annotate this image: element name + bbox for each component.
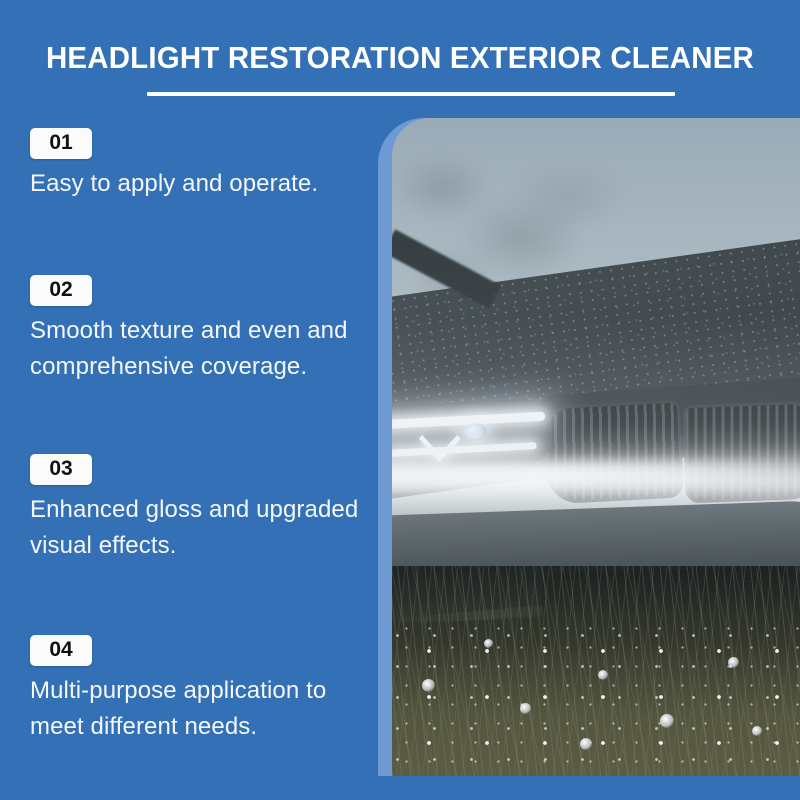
feature-text: Enhanced gloss and upgraded visual effec… [30,492,360,564]
list-item: 03 Enhanced gloss and upgraded visual ef… [30,454,370,564]
feature-number-badge: 04 [30,635,92,666]
car-headlight-photo [392,118,800,776]
dew-highlight [520,703,531,714]
page-title: HEADLIGHT RESTORATION EXTERIOR CLEANER [20,38,780,78]
photo-frame [378,118,800,776]
dew-highlight [660,714,674,728]
product-feature-poster: HEADLIGHT RESTORATION EXTERIOR CLEANER 0… [0,0,800,800]
feature-text: Smooth texture and even and comprehensiv… [30,313,360,385]
dew-highlight [728,657,739,668]
dew-highlight [484,639,493,648]
title-divider [147,92,675,96]
list-item: 01 Easy to apply and operate. [30,128,370,202]
feature-number-badge: 02 [30,275,92,306]
dew-highlight [580,738,592,750]
feature-text: Multi-purpose application to meet differ… [30,673,360,745]
dew-highlight [422,679,435,692]
dew-highlight [598,670,608,680]
dew-highlight [752,726,762,736]
feature-number-badge: 01 [30,128,92,159]
dew-droplets [392,616,800,776]
headlight-beam-core [392,462,800,488]
list-item: 04 Multi-purpose application to meet dif… [30,635,370,745]
feature-number-badge: 03 [30,454,92,485]
header: HEADLIGHT RESTORATION EXTERIOR CLEANER [0,38,800,78]
feature-text: Easy to apply and operate. [30,166,360,202]
list-item: 02 Smooth texture and even and comprehen… [30,275,370,385]
